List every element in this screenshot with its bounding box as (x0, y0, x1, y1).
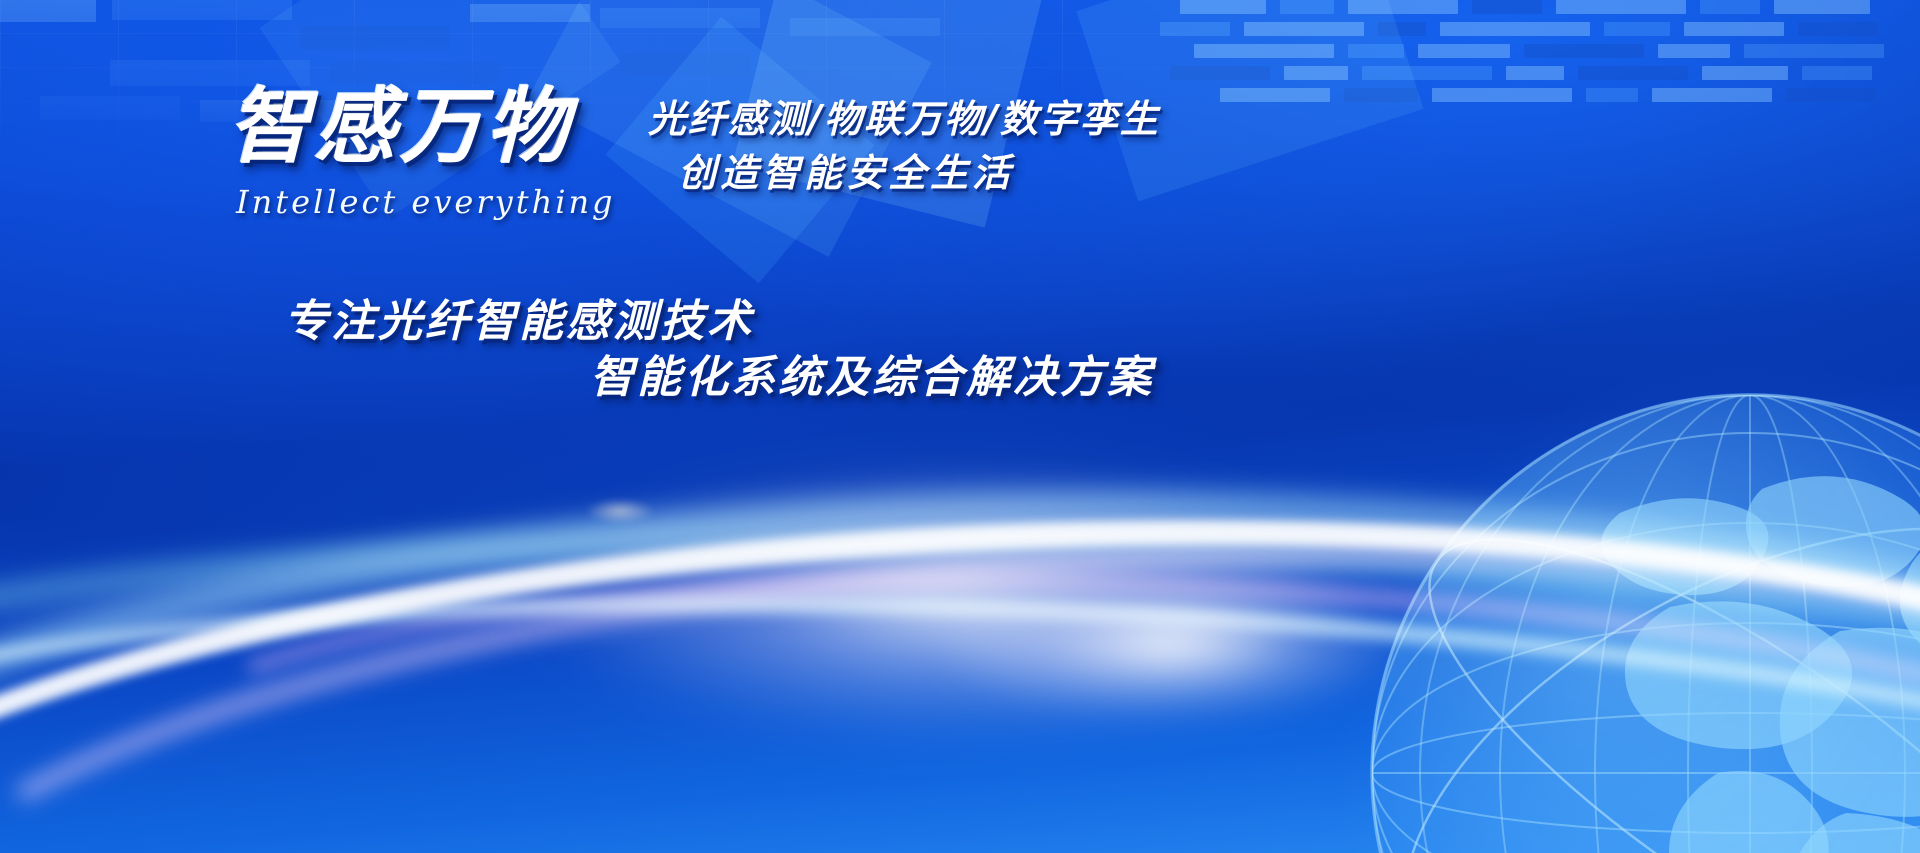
hero-banner: 智感万物 Intellect everything 光纤感测/物联万物/数字孪生… (0, 0, 1920, 853)
tagline-line-2: 创造智能安全生活 (678, 142, 1014, 197)
page-title: 智感万物 (228, 86, 572, 168)
page-subtitle-english: Intellect everything (236, 183, 616, 221)
banner-content: 智感万物 Intellect everything 光纤感测/物联万物/数字孪生… (0, 0, 1920, 853)
subheading-line-1: 专注光纤智能感测技术 (284, 285, 754, 349)
tagline-line-1: 光纤感测/物联万物/数字孪生 (648, 88, 1160, 143)
subheading-line-2: 智能化系统及综合解决方案 (590, 341, 1154, 405)
